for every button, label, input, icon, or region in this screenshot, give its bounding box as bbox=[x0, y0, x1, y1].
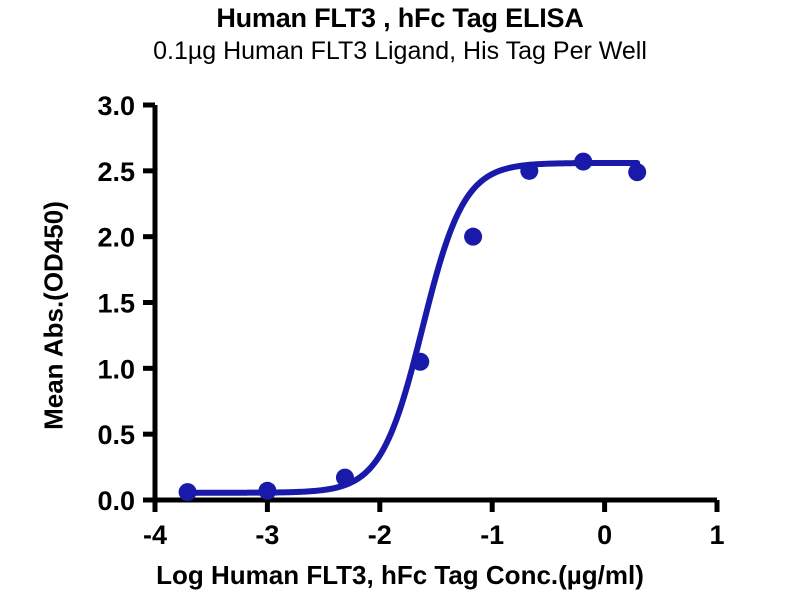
data-point bbox=[520, 162, 538, 180]
data-point bbox=[258, 482, 276, 500]
x-tick-label: -3 bbox=[255, 520, 279, 550]
y-tick-label: 1.0 bbox=[97, 354, 135, 384]
data-point bbox=[574, 153, 592, 171]
data-point-markers bbox=[179, 153, 647, 501]
y-tick-labels: 0.00.51.01.52.02.53.0 bbox=[97, 91, 135, 516]
y-tick-label: 1.5 bbox=[97, 289, 135, 319]
data-point bbox=[336, 469, 354, 487]
y-tick-label: 2.5 bbox=[97, 157, 135, 187]
y-tick-label: 0.0 bbox=[97, 486, 135, 516]
data-point bbox=[411, 353, 429, 371]
x-tick-label: 1 bbox=[709, 520, 724, 550]
plot-area: 0.00.51.01.52.02.53.0 -4-3-2-101 bbox=[0, 0, 800, 600]
x-tick-label: -4 bbox=[143, 520, 167, 550]
x-tick-label: -1 bbox=[480, 520, 504, 550]
elisa-chart-figure: Human FLT3 , hFc Tag ELISA 0.1µg Human F… bbox=[0, 0, 800, 600]
x-tick-label: 0 bbox=[597, 520, 612, 550]
data-point bbox=[179, 483, 197, 501]
x-tick-labels: -4-3-2-101 bbox=[143, 520, 725, 550]
sigmoid-fit-curve bbox=[188, 163, 638, 493]
y-tick-label: 3.0 bbox=[97, 91, 135, 121]
y-tick-label: 2.0 bbox=[97, 223, 135, 253]
data-point bbox=[628, 163, 646, 181]
x-tick-label: -2 bbox=[368, 520, 392, 550]
y-tick-label: 0.5 bbox=[97, 420, 135, 450]
data-point bbox=[464, 228, 482, 246]
